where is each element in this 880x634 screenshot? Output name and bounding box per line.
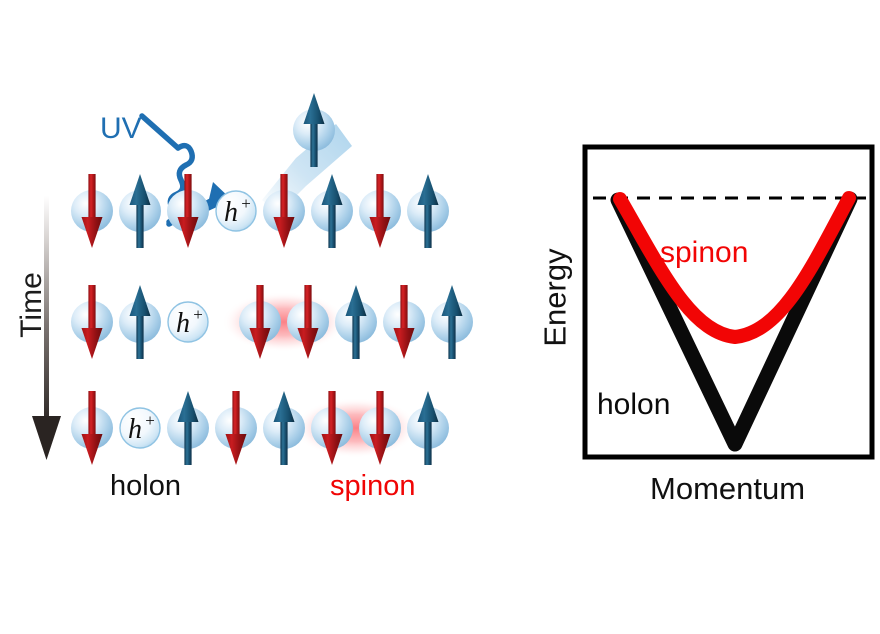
site-down-icon (71, 391, 113, 465)
hole-plus-row1: + (241, 194, 251, 213)
spinon-caption: spinon (330, 472, 415, 501)
site-up-icon (407, 391, 449, 465)
site-down-icon (215, 391, 257, 465)
site-up-icon (119, 174, 161, 248)
chart-spinon-series-label: spinon (660, 238, 748, 268)
site-up-icon (311, 174, 353, 248)
site-down-icon (71, 285, 113, 359)
figure-root: h + h + h + UV Time holon spinon Energy … (0, 0, 880, 634)
site-up-icon (431, 285, 473, 359)
holon-caption: holon (110, 472, 181, 501)
site-up-icon (119, 285, 161, 359)
spin-chain-row-1 (71, 174, 449, 248)
site-down-icon (167, 174, 209, 248)
hole-plus-row2: + (193, 305, 203, 324)
hole-label-row1: h (224, 197, 238, 228)
hole-label-row2: h (176, 308, 190, 339)
time-axis-label: Time (17, 257, 47, 353)
site-down-icon (383, 285, 425, 359)
chart-holon-series-label: holon (597, 390, 670, 420)
site-up-icon (263, 391, 305, 465)
figure-canvas: h + h + h + (0, 0, 880, 634)
site-down-icon (359, 174, 401, 248)
uv-label: UV (100, 114, 142, 144)
hole-plus-row3: + (145, 411, 155, 430)
site-up-icon (335, 285, 377, 359)
chart-x-axis-label: Momentum (650, 473, 805, 504)
hole-label-row3: h (128, 414, 142, 445)
chart-y-axis-label: Energy (540, 238, 571, 358)
site-up-icon (407, 174, 449, 248)
site-down-icon (71, 174, 113, 248)
site-up-icon (167, 391, 209, 465)
